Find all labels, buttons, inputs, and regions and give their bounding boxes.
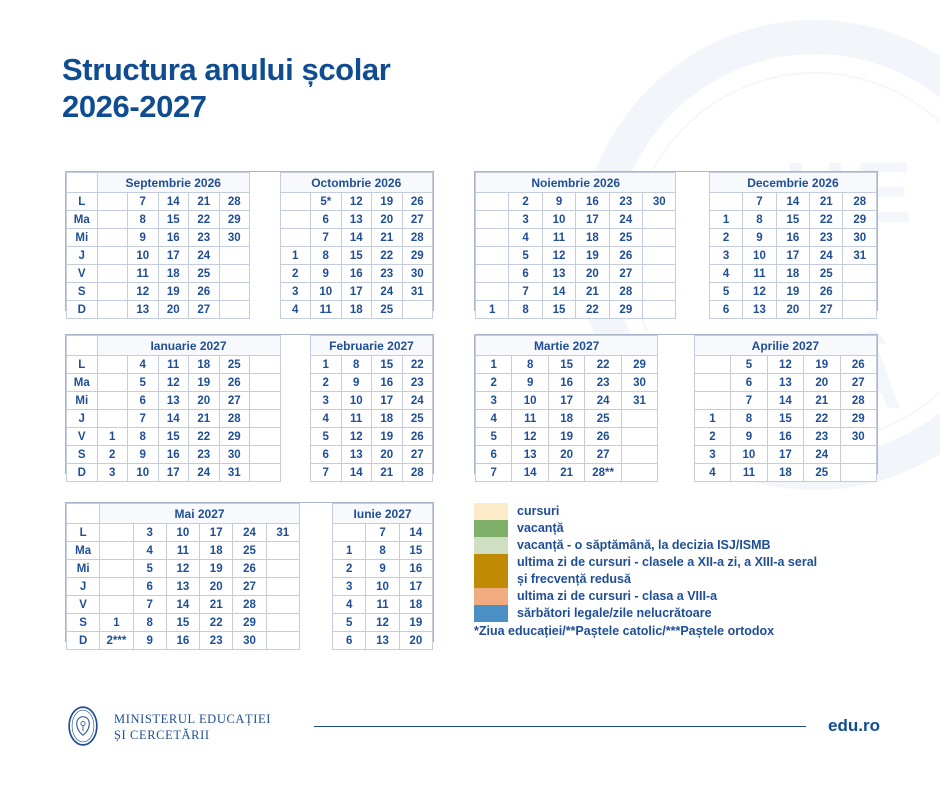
calendar-week-row: V11182529162330 bbox=[67, 265, 433, 283]
day-cell: 22 bbox=[200, 614, 233, 632]
day-label-d: D bbox=[67, 632, 100, 650]
day-cell: 20 bbox=[372, 211, 403, 229]
day-cell: 26 bbox=[402, 428, 433, 446]
month-header: Mai 2027 bbox=[100, 504, 300, 524]
day-cell: 2 bbox=[311, 374, 342, 392]
day-cell: 15 bbox=[542, 301, 575, 319]
day-cell: 27 bbox=[402, 446, 433, 464]
legend-label: vacanță bbox=[517, 520, 564, 537]
legend-label: sărbători legale/zile nelucrătoare bbox=[517, 605, 712, 622]
day-cell: 26 bbox=[233, 560, 266, 578]
day-label-corner bbox=[67, 504, 100, 524]
calendar-week-row: 181522296132027 bbox=[476, 301, 877, 319]
day-cell: 12 bbox=[341, 428, 372, 446]
day-cell: 4 bbox=[509, 229, 542, 247]
day-cell: 29 bbox=[402, 247, 433, 265]
day-cell: 22 bbox=[402, 356, 433, 374]
day-cell: 27 bbox=[219, 392, 250, 410]
day-cell: 19 bbox=[576, 247, 609, 265]
day-cell-empty bbox=[709, 193, 742, 211]
day-cell: 16 bbox=[341, 265, 372, 283]
day-cell: 28 bbox=[843, 193, 877, 211]
day-cell: 11 bbox=[542, 229, 575, 247]
day-cell-empty bbox=[621, 428, 657, 446]
day-cell: 4 bbox=[333, 596, 366, 614]
day-cell: 8 bbox=[128, 211, 159, 229]
calendar-week-row: L310172431714 bbox=[67, 524, 433, 542]
day-cell: 20 bbox=[200, 578, 233, 596]
day-cell: 18 bbox=[776, 265, 809, 283]
day-cell: 23 bbox=[609, 193, 642, 211]
month-gap bbox=[280, 464, 311, 482]
day-cell: 13 bbox=[128, 301, 159, 319]
day-cell: 15 bbox=[548, 356, 584, 374]
day-cell: 12 bbox=[158, 374, 189, 392]
day-cell-empty bbox=[97, 301, 128, 319]
day-cell: 14 bbox=[399, 524, 432, 542]
day-cell: 5 bbox=[709, 283, 742, 301]
calendar-week-row: 61320274111825 bbox=[476, 265, 877, 283]
ministry-name: MINISTERUL EDUCAȚIEI ȘI CERCETĂRII bbox=[114, 712, 271, 743]
calendar-table: Mai 2027Iunie 2027L310172431714Ma4111825… bbox=[66, 503, 433, 650]
day-cell-empty bbox=[621, 464, 657, 482]
day-cell: 1 bbox=[311, 356, 342, 374]
day-cell: 5 bbox=[128, 374, 159, 392]
month-gap bbox=[280, 446, 311, 464]
day-cell: 21 bbox=[804, 392, 840, 410]
day-cell: 10 bbox=[542, 211, 575, 229]
calendar-week-row: 5121926310172431 bbox=[476, 247, 877, 265]
legend-label: ultima zi de cursuri - clasele a XII-a z… bbox=[517, 554, 817, 588]
day-cell: 5 bbox=[509, 247, 542, 265]
month-gap bbox=[676, 211, 709, 229]
day-cell: 3 bbox=[133, 524, 166, 542]
month-gap bbox=[250, 193, 281, 211]
day-cell: 5 bbox=[476, 428, 512, 446]
day-cell: 19 bbox=[372, 193, 403, 211]
legend-footnote: *Ziua educației/**Paștele catolic/***Paș… bbox=[474, 624, 894, 638]
day-cell: 7 bbox=[743, 193, 776, 211]
day-label-ma: Ma bbox=[67, 211, 98, 229]
day-cell: 15 bbox=[341, 247, 372, 265]
day-cell: 5 bbox=[311, 428, 342, 446]
day-cell: 15 bbox=[166, 614, 199, 632]
day-cell: 1 bbox=[333, 542, 366, 560]
calendar-week-row: 411182518152229 bbox=[476, 410, 877, 428]
day-cell: 28 bbox=[219, 193, 250, 211]
day-cell: 25 bbox=[233, 542, 266, 560]
block-mai-iun: Mai 2027Iunie 2027L310172431714Ma4111825… bbox=[65, 502, 434, 642]
day-cell: 22 bbox=[585, 356, 621, 374]
day-cell-empty bbox=[250, 392, 281, 410]
month-gap bbox=[676, 265, 709, 283]
day-cell: 28 bbox=[402, 464, 433, 482]
day-label-j: J bbox=[67, 410, 98, 428]
day-cell: 3 bbox=[694, 446, 730, 464]
day-cell: 1 bbox=[100, 614, 133, 632]
calendar-week-row: Mi51219262916 bbox=[67, 560, 433, 578]
day-cell-empty bbox=[97, 211, 128, 229]
day-cell: 11 bbox=[731, 464, 767, 482]
day-cell: 20 bbox=[158, 301, 189, 319]
day-cell: 30 bbox=[219, 446, 250, 464]
day-cell: 31 bbox=[621, 392, 657, 410]
month-header: Iunie 2027 bbox=[333, 504, 433, 524]
calendar-week-row: L4111825181522 bbox=[67, 356, 433, 374]
calendar-week-row: V714212841118 bbox=[67, 596, 433, 614]
day-cell: 29 bbox=[609, 301, 642, 319]
month-gap bbox=[250, 265, 281, 283]
month-gap bbox=[676, 283, 709, 301]
day-cell: 17 bbox=[200, 524, 233, 542]
month-gap bbox=[299, 524, 332, 542]
day-cell: 12 bbox=[166, 560, 199, 578]
day-cell: 9 bbox=[133, 632, 166, 650]
day-cell: 20 bbox=[189, 392, 220, 410]
day-cell-empty bbox=[219, 247, 250, 265]
day-cell-empty bbox=[266, 542, 299, 560]
day-cell-empty bbox=[476, 247, 509, 265]
day-cell: 9 bbox=[743, 229, 776, 247]
day-cell: 15 bbox=[158, 211, 189, 229]
day-cell: 20 bbox=[372, 446, 403, 464]
day-cell: 17 bbox=[341, 283, 372, 301]
day-cell: 10 bbox=[366, 578, 399, 596]
day-cell: 17 bbox=[158, 464, 189, 482]
day-cell: 31 bbox=[219, 464, 250, 482]
day-cell: 21 bbox=[548, 464, 584, 482]
day-cell: 1 bbox=[280, 247, 311, 265]
month-gap bbox=[658, 374, 694, 392]
day-cell: 23 bbox=[402, 374, 433, 392]
day-cell: 2 bbox=[333, 560, 366, 578]
calendar-week-row: 291623307142128 bbox=[476, 193, 877, 211]
day-label-ma: Ma bbox=[67, 542, 100, 560]
day-cell-empty bbox=[843, 265, 877, 283]
day-cell: 9 bbox=[128, 446, 159, 464]
day-cell: 12 bbox=[512, 428, 548, 446]
day-cell: 11 bbox=[158, 356, 189, 374]
month-gap bbox=[299, 542, 332, 560]
day-cell: 30 bbox=[840, 428, 876, 446]
day-cell: 9 bbox=[341, 374, 372, 392]
legend-swatch-vacanta_o_saptamana bbox=[474, 537, 508, 554]
day-cell-empty bbox=[280, 229, 311, 247]
block-mar-apr: Martie 2027Aprilie 202718152229512192629… bbox=[474, 334, 878, 474]
day-cell: 2 bbox=[694, 428, 730, 446]
month-gap bbox=[299, 596, 332, 614]
day-cell-empty bbox=[402, 301, 433, 319]
day-cell: 21 bbox=[576, 283, 609, 301]
day-cell: 12 bbox=[366, 614, 399, 632]
day-cell: 22 bbox=[189, 428, 220, 446]
day-cell: 5* bbox=[311, 193, 342, 211]
month-header: Decembrie 2026 bbox=[709, 173, 876, 193]
day-cell: 24 bbox=[372, 283, 403, 301]
calendar-week-row: D3101724317142128 bbox=[67, 464, 433, 482]
day-cell: 31 bbox=[266, 524, 299, 542]
day-cell-empty bbox=[476, 283, 509, 301]
day-cell: 23 bbox=[372, 265, 403, 283]
day-cell: 13 bbox=[341, 446, 372, 464]
legend-label: cursuri bbox=[517, 503, 559, 520]
day-cell: 7 bbox=[509, 283, 542, 301]
day-cell: 6 bbox=[133, 578, 166, 596]
calendar-week-row: V181522295121926 bbox=[67, 428, 433, 446]
day-cell: 2*** bbox=[100, 632, 133, 650]
day-cell: 13 bbox=[166, 578, 199, 596]
day-cell: 11 bbox=[341, 410, 372, 428]
day-cell: 25 bbox=[810, 265, 843, 283]
month-gap bbox=[299, 614, 332, 632]
month-gap bbox=[299, 578, 332, 596]
day-cell: 5 bbox=[731, 356, 767, 374]
calendar-week-row: 7142128**4111825 bbox=[476, 464, 877, 482]
month-gap bbox=[250, 301, 281, 319]
calendar-week-row: J71421284111825 bbox=[67, 410, 433, 428]
day-cell-empty bbox=[266, 632, 299, 650]
day-cell: 22 bbox=[576, 301, 609, 319]
calendar-table: Martie 2027Aprilie 202718152229512192629… bbox=[475, 335, 877, 482]
day-cell: 21 bbox=[189, 410, 220, 428]
day-cell: 16 bbox=[158, 446, 189, 464]
day-cell: 6 bbox=[509, 265, 542, 283]
day-cell: 9 bbox=[128, 229, 159, 247]
day-cell: 2 bbox=[509, 193, 542, 211]
day-cell: 10 bbox=[341, 392, 372, 410]
calendar-week-row: 61320273101724 bbox=[476, 446, 877, 464]
day-cell: 17 bbox=[399, 578, 432, 596]
day-cell: 24 bbox=[609, 211, 642, 229]
day-label-mi: Mi bbox=[67, 560, 100, 578]
calendar-week-row: Ma5121926291623 bbox=[67, 374, 433, 392]
day-cell-empty bbox=[643, 265, 676, 283]
day-cell-empty bbox=[476, 265, 509, 283]
day-cell: 15 bbox=[372, 356, 403, 374]
month-gap bbox=[658, 410, 694, 428]
day-cell: 5 bbox=[133, 560, 166, 578]
day-cell: 20 bbox=[548, 446, 584, 464]
day-cell: 1 bbox=[476, 356, 512, 374]
day-label-j: J bbox=[67, 247, 98, 265]
day-cell: 23 bbox=[189, 446, 220, 464]
calendar-week-row: D2***916233061320 bbox=[67, 632, 433, 650]
day-cell: 28 bbox=[219, 410, 250, 428]
month-gap bbox=[250, 229, 281, 247]
day-cell: 3 bbox=[97, 464, 128, 482]
month-gap bbox=[658, 392, 694, 410]
day-cell: 8 bbox=[512, 356, 548, 374]
day-cell: 8 bbox=[509, 301, 542, 319]
day-cell: 19 bbox=[548, 428, 584, 446]
day-label-s: S bbox=[67, 283, 98, 301]
day-cell: 25 bbox=[402, 410, 433, 428]
day-cell-empty bbox=[694, 356, 730, 374]
day-cell: 24 bbox=[189, 247, 220, 265]
month-gap bbox=[280, 428, 311, 446]
day-cell: 14 bbox=[767, 392, 803, 410]
legend-row: vacanță bbox=[474, 520, 894, 537]
day-cell: 3 bbox=[280, 283, 311, 301]
day-cell-empty bbox=[694, 392, 730, 410]
day-cell: 16 bbox=[399, 560, 432, 578]
day-cell: 6 bbox=[128, 392, 159, 410]
month-gap bbox=[676, 301, 709, 319]
day-cell: 27 bbox=[840, 374, 876, 392]
day-cell: 21 bbox=[372, 464, 403, 482]
day-cell-empty bbox=[840, 446, 876, 464]
day-cell: 4 bbox=[133, 542, 166, 560]
month-gap bbox=[250, 173, 281, 193]
legend-swatch-sarbatori_legale bbox=[474, 605, 508, 622]
month-gap bbox=[280, 336, 311, 356]
day-cell: 29 bbox=[840, 410, 876, 428]
day-label-l: L bbox=[67, 356, 98, 374]
day-cell: 26 bbox=[219, 374, 250, 392]
day-cell: 15 bbox=[776, 211, 809, 229]
month-gap bbox=[676, 173, 709, 193]
day-cell: 26 bbox=[189, 283, 220, 301]
day-cell: 15 bbox=[158, 428, 189, 446]
day-cell: 10 bbox=[743, 247, 776, 265]
day-cell: 5 bbox=[333, 614, 366, 632]
day-cell: 8 bbox=[366, 542, 399, 560]
day-cell: 26 bbox=[840, 356, 876, 374]
day-cell: 14 bbox=[776, 193, 809, 211]
legend-label: ultima zi de cursuri - clasa a VIII-a bbox=[517, 588, 717, 605]
day-cell: 27 bbox=[402, 211, 433, 229]
day-cell-empty bbox=[100, 560, 133, 578]
calendar-week-row: 310172418152229 bbox=[476, 211, 877, 229]
day-cell: 17 bbox=[776, 247, 809, 265]
day-cell: 4 bbox=[280, 301, 311, 319]
day-cell: 31 bbox=[843, 247, 877, 265]
month-gap bbox=[658, 446, 694, 464]
day-cell: 17 bbox=[158, 247, 189, 265]
day-cell-empty bbox=[97, 265, 128, 283]
month-gap bbox=[299, 504, 332, 524]
day-cell: 28 bbox=[840, 392, 876, 410]
day-cell: 27 bbox=[585, 446, 621, 464]
day-cell: 15 bbox=[767, 410, 803, 428]
day-cell: 13 bbox=[158, 392, 189, 410]
day-cell: 10 bbox=[731, 446, 767, 464]
day-cell: 27 bbox=[189, 301, 220, 319]
day-cell: 27 bbox=[810, 301, 843, 319]
day-cell: 22 bbox=[189, 211, 220, 229]
block-nov-dec: Noiembrie 2026Decembrie 2026291623307142… bbox=[474, 171, 878, 311]
day-cell: 8 bbox=[341, 356, 372, 374]
day-cell: 11 bbox=[311, 301, 342, 319]
day-cell-empty bbox=[621, 410, 657, 428]
day-cell: 25 bbox=[585, 410, 621, 428]
day-label-l: L bbox=[67, 193, 98, 211]
month-header: Aprilie 2027 bbox=[694, 336, 876, 356]
day-cell: 4 bbox=[709, 265, 742, 283]
day-cell-empty bbox=[97, 374, 128, 392]
day-cell: 22 bbox=[810, 211, 843, 229]
day-cell: 2 bbox=[709, 229, 742, 247]
day-cell: 13 bbox=[341, 211, 372, 229]
day-cell: 13 bbox=[512, 446, 548, 464]
day-cell: 3 bbox=[709, 247, 742, 265]
month-gap bbox=[280, 356, 311, 374]
day-label-d: D bbox=[67, 464, 98, 482]
day-cell: 8 bbox=[731, 410, 767, 428]
day-cell: 1 bbox=[694, 410, 730, 428]
day-cell: 19 bbox=[189, 374, 220, 392]
day-cell-empty bbox=[266, 614, 299, 632]
day-cell: 26 bbox=[402, 193, 433, 211]
day-cell: 16 bbox=[372, 374, 403, 392]
day-cell: 23 bbox=[585, 374, 621, 392]
day-cell-empty bbox=[97, 229, 128, 247]
day-cell: 25 bbox=[372, 301, 403, 319]
footer: MINISTERUL EDUCAȚIEI ȘI CERCETĂRII edu.r… bbox=[62, 702, 880, 758]
legend-row: vacanță - o săptămână, la decizia ISJ/IS… bbox=[474, 537, 894, 554]
day-cell-empty bbox=[97, 283, 128, 301]
day-cell: 8 bbox=[128, 428, 159, 446]
day-cell: 20 bbox=[576, 265, 609, 283]
ministry-seal-icon bbox=[62, 705, 104, 747]
legend-swatch-vacanta bbox=[474, 520, 508, 537]
day-cell: 7 bbox=[311, 229, 342, 247]
day-cell: 8 bbox=[311, 247, 342, 265]
day-cell: 7 bbox=[133, 596, 166, 614]
calendar-week-row: S291623306132027 bbox=[67, 446, 433, 464]
day-cell: 13 bbox=[743, 301, 776, 319]
day-cell: 4 bbox=[694, 464, 730, 482]
day-label-j: J bbox=[67, 578, 100, 596]
day-label-v: V bbox=[67, 428, 98, 446]
day-cell: 30 bbox=[843, 229, 877, 247]
day-cell: 10 bbox=[512, 392, 548, 410]
legend: cursurivacanțăvacanță - o săptămână, la … bbox=[474, 503, 894, 638]
month-gap bbox=[676, 247, 709, 265]
month-header: Noiembrie 2026 bbox=[476, 173, 676, 193]
edu-ro-link[interactable]: edu.ro bbox=[828, 716, 880, 736]
day-cell: 13 bbox=[767, 374, 803, 392]
legend-row: sărbători legale/zile nelucrătoare bbox=[474, 605, 894, 622]
day-cell: 23 bbox=[804, 428, 840, 446]
calendar-week-row: S1815222951219 bbox=[67, 614, 433, 632]
day-label-s: S bbox=[67, 446, 98, 464]
day-cell: 3 bbox=[333, 578, 366, 596]
day-cell: 16 bbox=[548, 374, 584, 392]
month-gap bbox=[658, 336, 694, 356]
month-gap bbox=[658, 356, 694, 374]
day-cell: 10 bbox=[128, 464, 159, 482]
day-cell-empty bbox=[250, 428, 281, 446]
day-cell: 8 bbox=[133, 614, 166, 632]
month-gap bbox=[299, 632, 332, 650]
day-cell: 30 bbox=[621, 374, 657, 392]
day-cell: 16 bbox=[166, 632, 199, 650]
day-cell-empty bbox=[97, 392, 128, 410]
day-cell: 19 bbox=[804, 356, 840, 374]
day-cell: 24 bbox=[189, 464, 220, 482]
day-cell: 4 bbox=[476, 410, 512, 428]
day-cell-empty bbox=[219, 301, 250, 319]
day-label-corner bbox=[67, 173, 98, 193]
day-cell: 13 bbox=[366, 632, 399, 650]
day-cell: 16 bbox=[767, 428, 803, 446]
day-cell: 27 bbox=[233, 578, 266, 596]
day-cell: 19 bbox=[372, 428, 403, 446]
day-cell: 18 bbox=[399, 596, 432, 614]
day-cell: 16 bbox=[776, 229, 809, 247]
day-cell: 6 bbox=[311, 446, 342, 464]
